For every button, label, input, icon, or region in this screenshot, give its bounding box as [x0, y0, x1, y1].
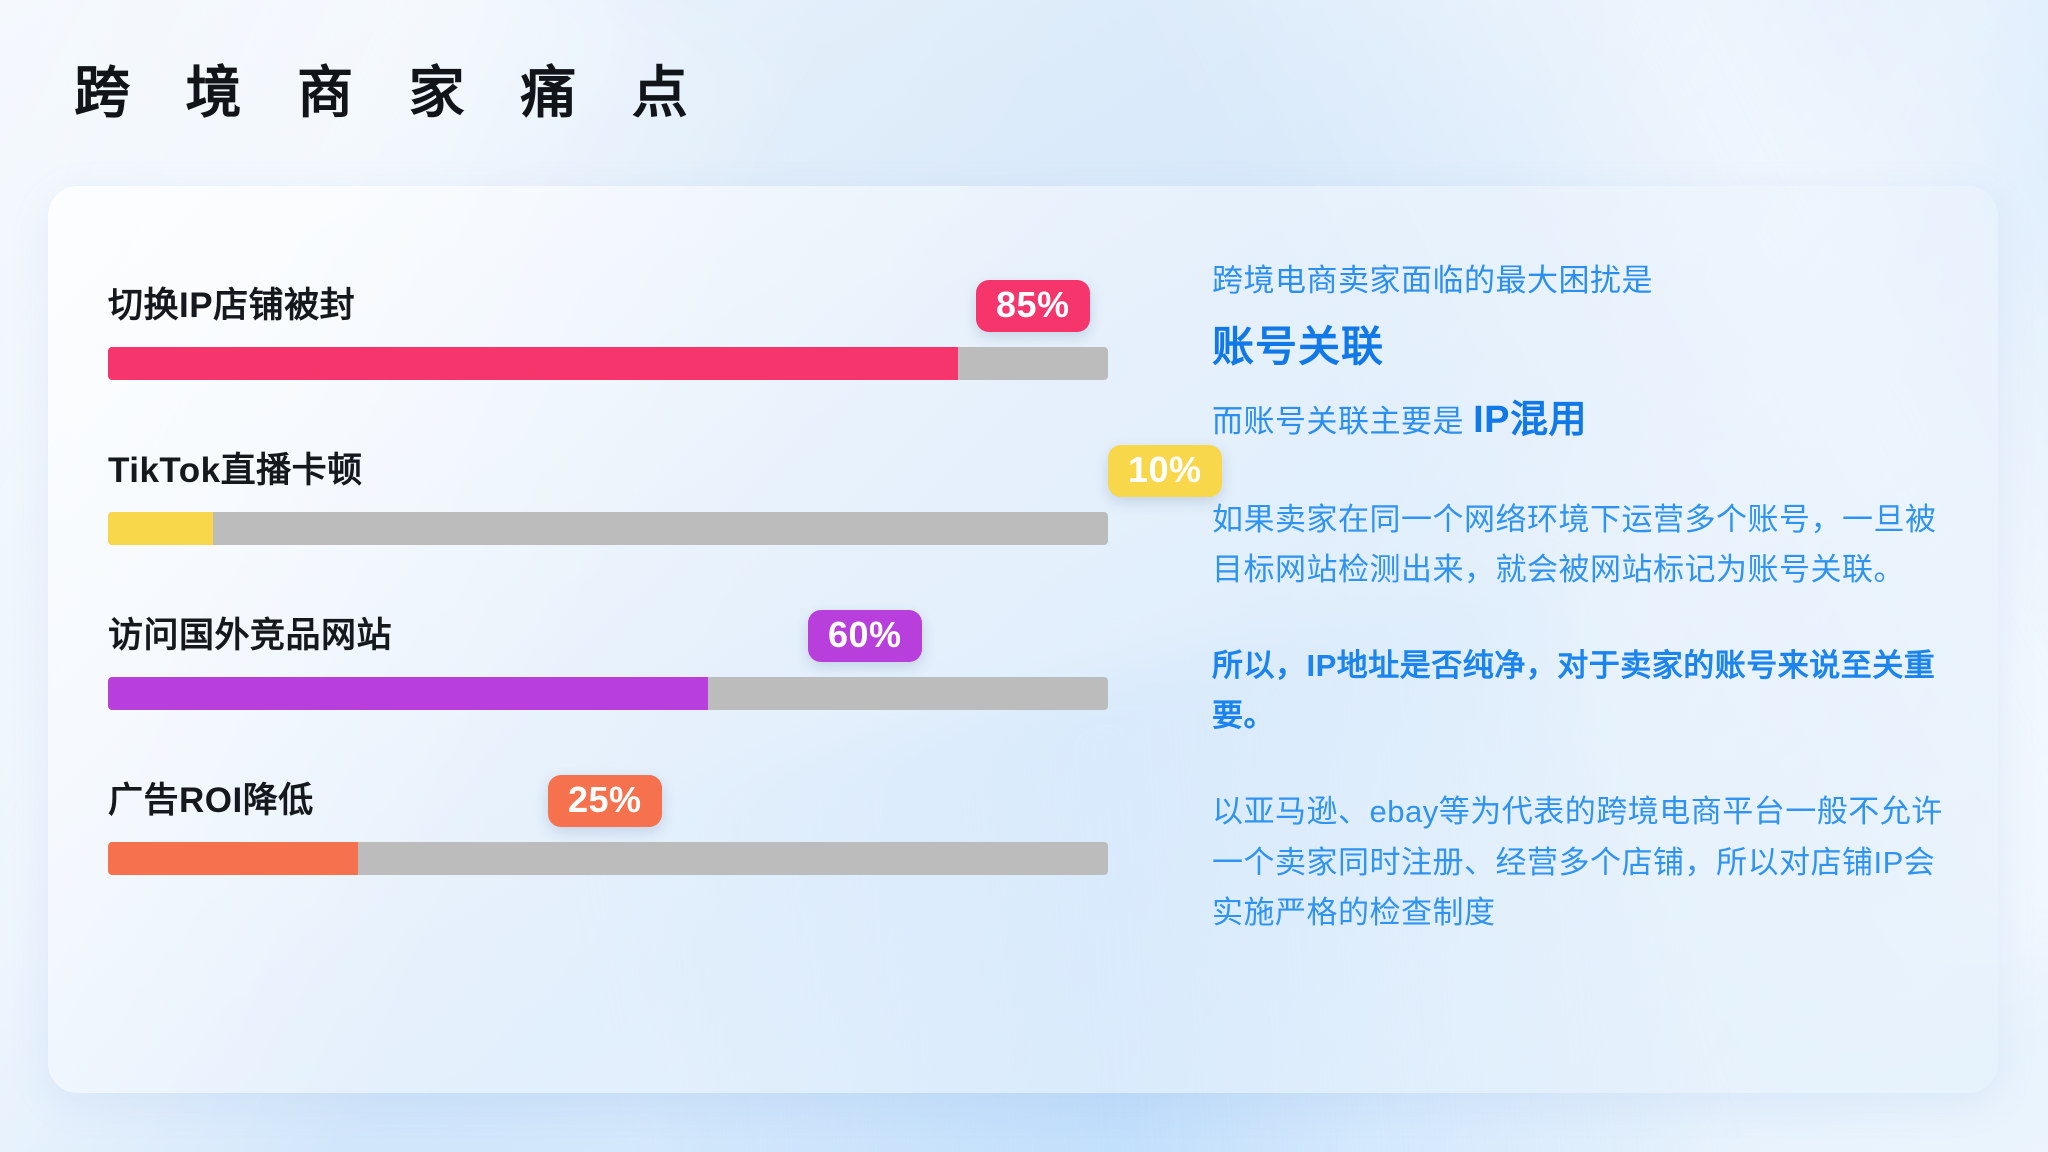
bar-value-badge: 60% [808, 610, 922, 662]
copy-paragraph-3: 以亚马逊、ebay等为代表的跨境电商平台一般不允许一个卖家同时注册、经营多个店铺… [1212, 787, 1952, 938]
slide-stage: 跨 境 商 家 痛 点 切换IP店铺被封 85% TikTok直播卡顿 10% [0, 0, 2048, 1152]
bar-label: 切换IP店铺被封 [108, 277, 355, 328]
copy-subheading-strong: IP混用 [1473, 399, 1587, 441]
copy-subheading-prefix: 而账号关联主要是 [1212, 404, 1473, 439]
copy-subheading: 而账号关联主要是 IP混用 [1212, 392, 1952, 449]
copy-paragraph-2: 所以，IP地址是否纯净，对于卖家的账号来说至关重要。 [1212, 641, 1952, 741]
bar-label: 访问国外竞品网站 [108, 607, 392, 658]
bar-row: 切换IP店铺被封 85% [108, 258, 1168, 423]
bar-fill [108, 347, 958, 380]
copy-highlight-text: 账号关联 [1212, 315, 1952, 378]
bar-fill [108, 842, 358, 875]
bar-label: TikTok直播卡顿 [108, 442, 363, 493]
content-card: 切换IP店铺被封 85% TikTok直播卡顿 10% [48, 186, 1998, 1093]
bar-row: TikTok直播卡顿 10% [108, 423, 1168, 588]
bar-track [108, 677, 1108, 710]
bar-track [108, 842, 1108, 875]
bar-track [108, 512, 1108, 545]
page-title: 跨 境 商 家 痛 点 [74, 62, 708, 124]
bar-fill [108, 677, 708, 710]
bar-fill [108, 512, 213, 545]
bar-row: 广告ROI降低 25% [108, 753, 1168, 918]
bar-value-badge: 85% [976, 280, 1090, 332]
bar-header: 切换IP店铺被封 85% [108, 258, 1168, 336]
bar-track [108, 347, 1108, 380]
explanation-column: 跨境电商卖家面临的最大困扰是 账号关联 而账号关联主要是 IP混用 如果卖家在同… [1212, 258, 1952, 938]
bar-header: TikTok直播卡顿 10% [108, 423, 1168, 501]
bar-header: 广告ROI降低 25% [108, 753, 1168, 831]
pain-point-bar-chart: 切换IP店铺被封 85% TikTok直播卡顿 10% [108, 258, 1168, 918]
copy-paragraph-1: 如果卖家在同一个网络环境下运营多个账号，一旦被目标网站检测出来，就会被网站标记为… [1212, 495, 1952, 595]
bar-row: 访问国外竞品网站 60% [108, 588, 1168, 753]
bar-header: 访问国外竞品网站 60% [108, 588, 1168, 666]
bar-value-badge: 10% [1108, 445, 1222, 497]
bar-value-badge: 25% [548, 775, 662, 827]
bar-label: 广告ROI降低 [108, 772, 314, 823]
copy-lead-text: 跨境电商卖家面临的最大困扰是 [1212, 258, 1952, 305]
